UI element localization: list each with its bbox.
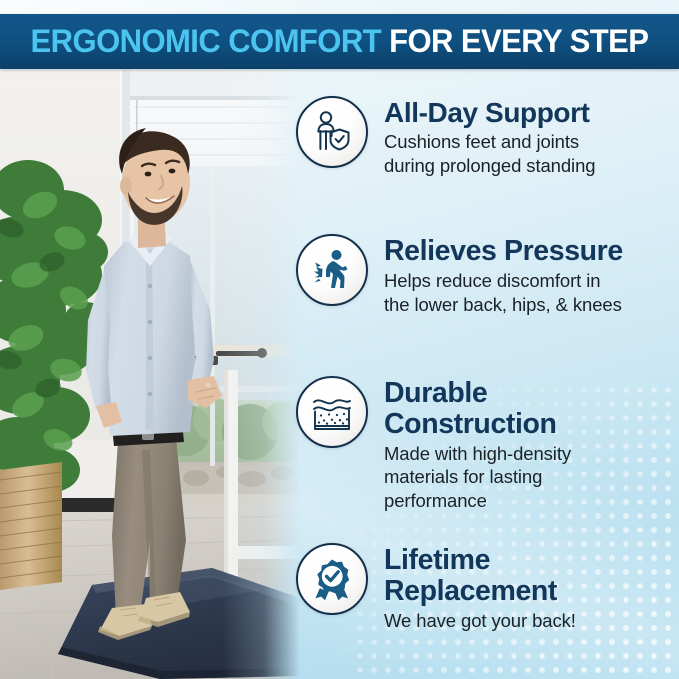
- lifestyle-photo: [0, 70, 300, 679]
- feature-item-lifetime-replacement: Lifetime Replacement We have got your ba…: [296, 543, 576, 632]
- feature-item-all-day-support: All-Day Support Cushions feet and joints…: [296, 96, 595, 178]
- back-pain-person-icon: [296, 234, 368, 306]
- page-title: ERGONOMIC COMFORT FOR EVERY STEP: [31, 23, 649, 60]
- feature-list: All-Day Support Cushions feet and joints…: [296, 76, 679, 676]
- feature-text: Durable Construction Made with high-dens…: [384, 376, 571, 513]
- foam-layers-icon: [296, 376, 368, 448]
- header-banner: ERGONOMIC COMFORT FOR EVERY STEP: [0, 14, 679, 69]
- feature-description: We have got your back!: [384, 609, 576, 633]
- page-title-rest: FOR EVERY STEP: [389, 23, 648, 59]
- page-title-highlight: ERGONOMIC COMFORT: [31, 23, 382, 59]
- feature-text: Relieves Pressure Helps reduce discomfor…: [384, 234, 623, 316]
- feature-description: Helps reduce discomfort in the lower bac…: [384, 269, 623, 317]
- feature-item-relieves-pressure: Relieves Pressure Helps reduce discomfor…: [296, 234, 623, 316]
- feature-text: Lifetime Replacement We have got your ba…: [384, 543, 576, 632]
- feature-title: Durable Construction: [384, 378, 571, 440]
- person-shield-icon: [296, 96, 368, 168]
- feature-title: Lifetime Replacement: [384, 545, 576, 607]
- feature-title: Relieves Pressure: [384, 236, 623, 267]
- feature-item-durable-construction: Durable Construction Made with high-dens…: [296, 376, 571, 513]
- feature-description: Cushions feet and joints during prolonge…: [384, 130, 595, 178]
- award-badge-icon: [296, 543, 368, 615]
- product-infographic: ERGONOMIC COMFORT FOR EVERY STEP: [0, 0, 679, 679]
- feature-description: Made with high-density materials for las…: [384, 442, 571, 514]
- feature-text: All-Day Support Cushions feet and joints…: [384, 96, 595, 178]
- feature-title: All-Day Support: [384, 98, 595, 128]
